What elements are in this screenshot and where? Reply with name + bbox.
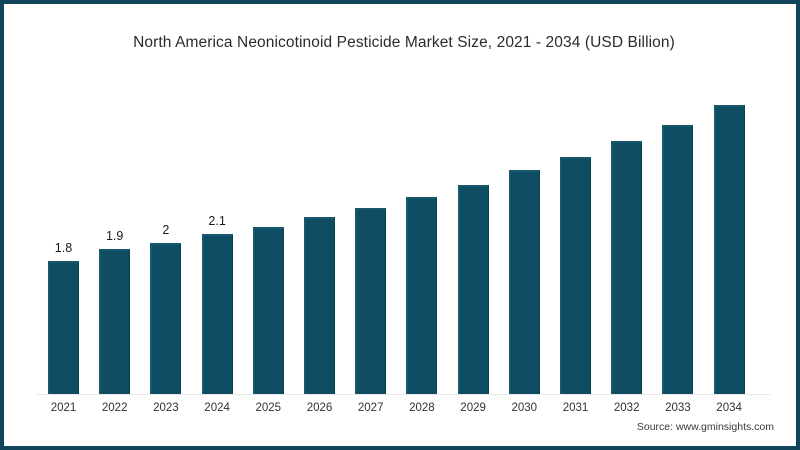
- bar-group: 2.1: [202, 234, 233, 394]
- bar: [406, 197, 437, 394]
- x-axis-tick-label: 2025: [243, 402, 294, 414]
- bar-value-label: 1.9: [90, 229, 139, 243]
- x-axis-tick-label: 2027: [345, 402, 396, 414]
- bar: [662, 125, 693, 394]
- bar: [355, 208, 386, 394]
- bar: [509, 170, 540, 394]
- bar-group: 1.8: [48, 261, 79, 394]
- x-axis-tick-label: 2024: [192, 402, 243, 414]
- x-axis-tick-label: 2028: [396, 402, 447, 414]
- bar-value-label: 2: [141, 223, 190, 237]
- bar: [99, 249, 130, 394]
- bar-group: 1.9: [99, 249, 130, 394]
- bar-group: [458, 185, 489, 394]
- bar: [714, 105, 745, 394]
- bar-value-label: 1.8: [39, 241, 88, 255]
- x-axis-tick-label: 2032: [601, 402, 652, 414]
- bar: [150, 243, 181, 394]
- source-note: Source: www.gminsights.com: [637, 421, 774, 433]
- bar-group: 2: [150, 243, 181, 394]
- bar: [202, 234, 233, 394]
- bar-group: [560, 157, 591, 394]
- chart-image: North America Neonicotinoid Pesticide Ma…: [0, 0, 800, 450]
- bar: [611, 141, 642, 394]
- bar-group: [509, 170, 540, 394]
- bar: [458, 185, 489, 394]
- bar-group: [611, 141, 642, 394]
- bar: [560, 157, 591, 394]
- bar-group: [304, 217, 335, 394]
- bar: [304, 217, 335, 394]
- x-axis-tick-label: 2023: [140, 402, 191, 414]
- bar-group: [714, 105, 745, 394]
- bar-group: [406, 197, 437, 394]
- x-axis-tick-label: 2029: [448, 402, 499, 414]
- x-axis-tick-label: 2031: [550, 402, 601, 414]
- bar-value-label: 2.1: [193, 214, 242, 228]
- x-axis-tick-label: 2030: [499, 402, 550, 414]
- x-axis-baseline: [37, 394, 770, 395]
- x-axis-tick-label: 2022: [89, 402, 140, 414]
- bar: [48, 261, 79, 394]
- x-axis-tick-label: 2021: [38, 402, 89, 414]
- bar: [253, 227, 284, 394]
- bar-group: [355, 208, 386, 394]
- bar-group: [253, 227, 284, 394]
- x-axis-tick-label: 2034: [704, 402, 755, 414]
- x-axis-tick-label: 2033: [652, 402, 703, 414]
- bar-group: [662, 125, 693, 394]
- x-axis-tick-label: 2026: [294, 402, 345, 414]
- chart-title: North America Neonicotinoid Pesticide Ma…: [4, 34, 800, 52]
